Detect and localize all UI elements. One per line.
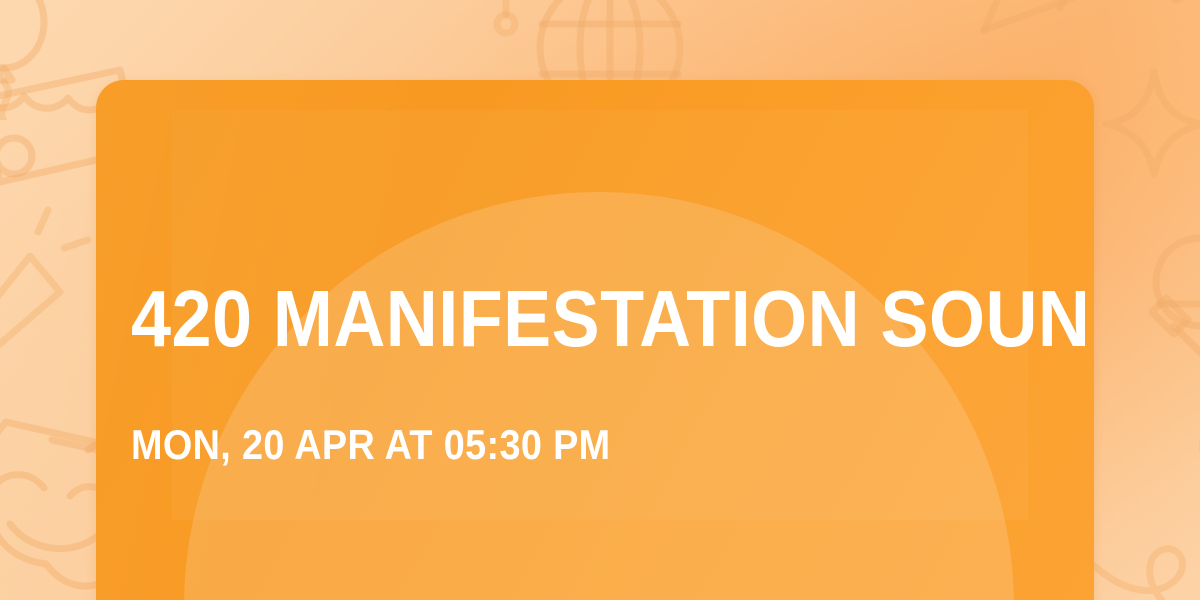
event-title: 420 MANIFESTATION SOUNDBATH [131,276,1094,362]
event-banner: 420 MANIFESTATION SOUNDBATH MON, 20 APR … [0,0,1200,600]
event-card[interactable]: 420 MANIFESTATION SOUNDBATH MON, 20 APR … [96,80,1094,600]
event-date-time: MON, 20 APR AT 05:30 PM [131,420,610,470]
card-content: 420 MANIFESTATION SOUNDBATH MON, 20 APR … [131,80,1059,600]
